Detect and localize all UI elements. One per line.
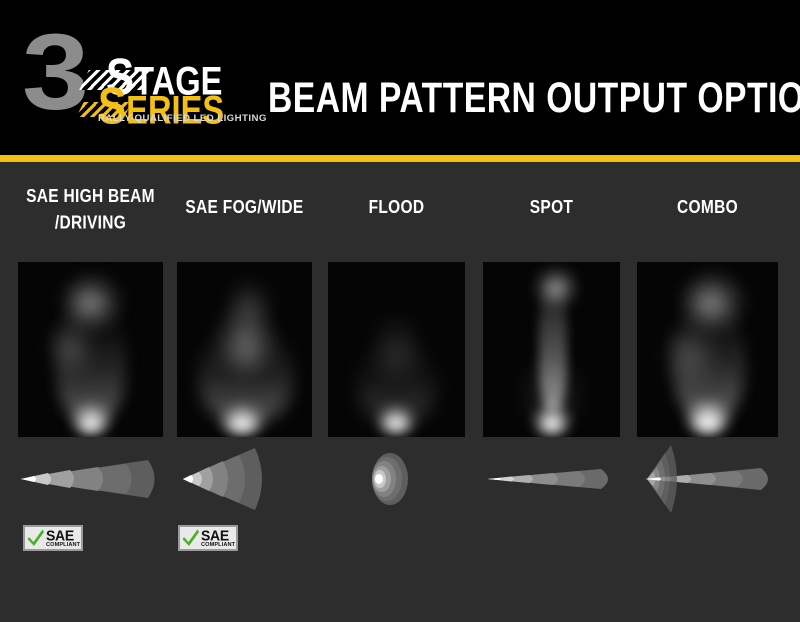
column-label-spot: SPOT xyxy=(483,195,620,222)
beam-profile-svg xyxy=(637,444,778,514)
upper-spill-glow xyxy=(227,280,271,332)
mid-glow xyxy=(372,317,422,377)
sae-fog-wide-beam-profile xyxy=(177,444,312,514)
combo-beam-profile xyxy=(637,444,778,514)
column-label-sae-fog-wide: SAE FOG/WIDE xyxy=(177,195,312,222)
left-spill-glow xyxy=(48,317,92,377)
sae-badge-text: SAE COMPLIANT xyxy=(46,528,80,549)
sae-compliant-badge: SAE COMPLIANT xyxy=(23,525,83,551)
label-line-1: FLOOD xyxy=(328,195,465,222)
beam-core xyxy=(183,475,193,483)
page-title: BEAM PATTERN OUTPUT OPTIONS xyxy=(268,74,800,123)
column-flood: FLOOD xyxy=(328,162,465,622)
sae-badge-main-text: SAE xyxy=(201,528,229,543)
label-line-1: COMBO xyxy=(637,195,778,222)
sae-high-beam-driving-beam-profile xyxy=(18,444,163,514)
checkmark-svg xyxy=(27,528,45,548)
logo-word-series: SERIES xyxy=(98,81,224,133)
column-spot: SPOT xyxy=(483,162,620,622)
beam-profile-svg xyxy=(18,444,163,514)
beam-profile-svg xyxy=(177,444,312,514)
beam-glow-group xyxy=(637,262,778,437)
label-line-1: SAE HIGH BEAM xyxy=(18,184,163,211)
column-sae-high-beam-driving: SAE HIGH BEAM /DRIVING xyxy=(18,162,163,622)
checkmark-svg xyxy=(182,528,200,548)
logo-numeral-3: 3 xyxy=(22,18,83,126)
checkmark-icon xyxy=(27,528,45,548)
distant-hotspot-glow xyxy=(535,268,577,308)
header-banner: 3 STAGE SERIES RALLY-QUALIFIED LED LIGHT… xyxy=(0,0,800,155)
column-label-flood: FLOOD xyxy=(328,195,465,222)
checkmark-icon xyxy=(182,528,200,548)
beam-pattern-grid: SAE HIGH BEAM /DRIVING xyxy=(0,162,800,622)
sae-badge-main-text: SAE xyxy=(46,528,74,543)
logo-series-rest: ERIES xyxy=(126,88,224,133)
column-label-combo: COMBO xyxy=(637,195,778,222)
column-label-sae-high-beam-driving: SAE HIGH BEAM /DRIVING xyxy=(18,184,163,238)
column-sae-fog-wide: SAE FOG/WIDE xyxy=(177,162,312,622)
label-line-1: SAE FOG/WIDE xyxy=(177,195,312,222)
logo-series-capital: S xyxy=(98,77,126,135)
accent-divider-bar xyxy=(0,155,800,162)
spot-beam-profile xyxy=(483,444,620,514)
left-spill-glow xyxy=(663,322,715,388)
lower-spill-glow xyxy=(521,357,583,427)
beam-profile-svg xyxy=(483,444,620,514)
column-combo: COMBO xyxy=(637,162,778,622)
beam-glow-group xyxy=(328,262,465,437)
beam-core xyxy=(21,476,36,482)
sae-fog-wide-night-photo xyxy=(177,262,312,437)
beam-glow-group xyxy=(483,262,620,437)
combo-night-photo xyxy=(637,262,778,437)
flood-night-photo xyxy=(328,262,465,437)
sae-badge-text: SAE COMPLIANT xyxy=(201,528,235,549)
spot-night-photo xyxy=(483,262,620,437)
beam-core xyxy=(375,474,383,484)
label-line-1: SPOT xyxy=(483,195,620,222)
beam-profile-svg xyxy=(328,444,465,514)
beam-glow-group xyxy=(177,262,312,437)
stage-series-logo: 3 STAGE SERIES RALLY-QUALIFIED LED LIGHT… xyxy=(22,26,262,131)
sae-high-beam-driving-night-photo xyxy=(18,262,163,437)
sae-compliant-badge: SAE COMPLIANT xyxy=(178,525,238,551)
beam-glow-group xyxy=(18,262,163,437)
logo-tagline: RALLY-QUALIFIED LED LIGHTING xyxy=(98,113,267,124)
label-line-2: /DRIVING xyxy=(18,211,163,238)
flood-beam-profile xyxy=(328,444,465,514)
